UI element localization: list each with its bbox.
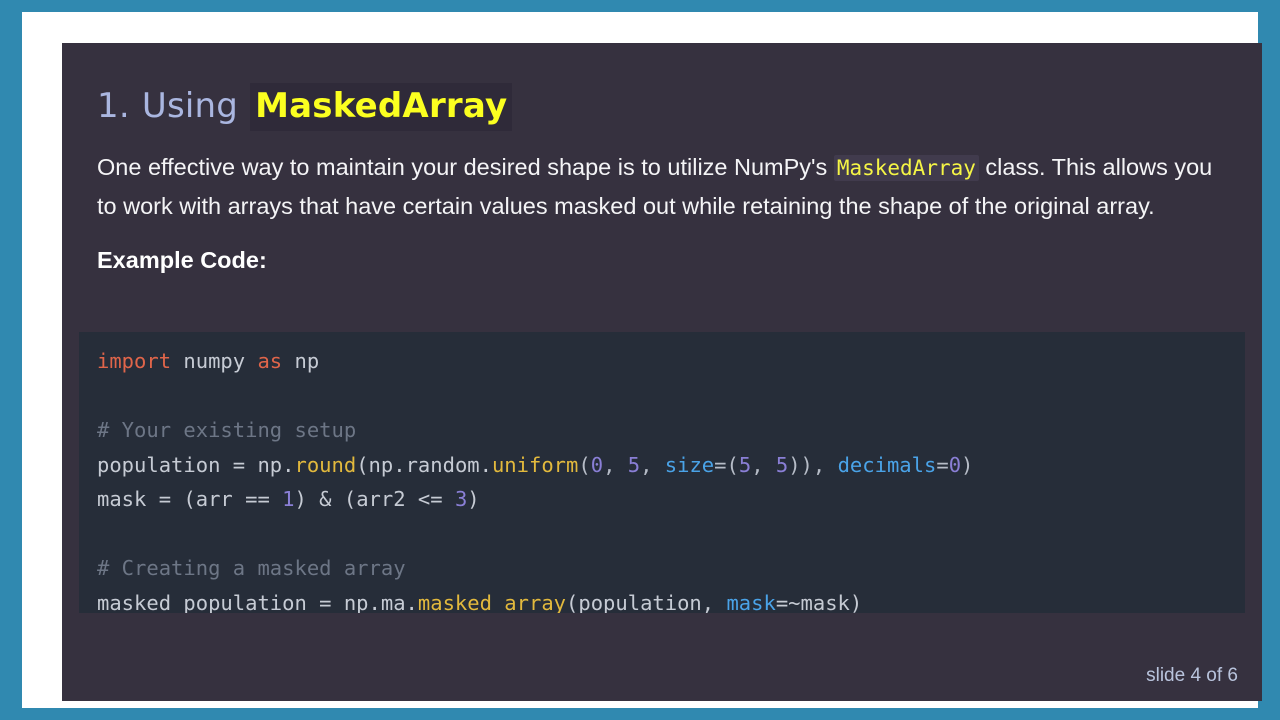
code-module-numpy: numpy	[171, 349, 257, 373]
code-kwarg-size: size	[665, 453, 714, 477]
code-num-zero: 0	[591, 453, 603, 477]
body-paragraph: One effective way to maintain your desir…	[97, 148, 1222, 225]
slide-counter: slide 4 of 6	[1146, 665, 1238, 687]
code-fn-round: round	[294, 453, 356, 477]
code-num-five-c: 5	[776, 453, 788, 477]
code-block: import numpy as np # Your existing setup…	[79, 332, 1245, 613]
title-number: 1.	[97, 86, 130, 126]
code-comment-creating: # Creating a masked array	[97, 556, 406, 580]
code-equals: =	[936, 453, 948, 477]
code-kwarg-mask: mask	[726, 591, 775, 614]
code-comma-3: ,	[751, 453, 776, 477]
code-comment-setup: # Your existing setup	[97, 418, 356, 442]
code-assign-mask-c: )	[467, 487, 479, 511]
paragraph-text-lead: One effective way to maintain your desir…	[97, 154, 834, 180]
example-code-heading: Example Code:	[97, 247, 1222, 274]
title-word: Using	[142, 86, 238, 126]
code-num-one: 1	[282, 487, 294, 511]
code-alias-np: np	[282, 349, 319, 373]
code-seg-random: (np.random.	[356, 453, 492, 477]
code-assign-population: population = np.	[97, 453, 294, 477]
code-fn-masked-array: masked_array	[418, 591, 566, 614]
code-assign-masked-population: masked_population = np.ma.	[97, 591, 418, 614]
code-comma-1: ,	[603, 453, 628, 477]
slide-canvas: 1. Using MaskedArray One effective way t…	[62, 43, 1262, 701]
code-comma-2: ,	[640, 453, 665, 477]
code-args-population: (population,	[566, 591, 726, 614]
code-mask-negation: =~mask)	[776, 591, 862, 614]
code-num-zero-b: 0	[949, 453, 961, 477]
slide-white-mat: 1. Using MaskedArray One effective way t…	[22, 12, 1258, 708]
code-eq-paren: =(	[714, 453, 739, 477]
title-highlight-term: MaskedArray	[250, 83, 512, 131]
inline-code-maskedarray: MaskedArray	[834, 155, 979, 181]
page-title: 1. Using MaskedArray	[97, 87, 1222, 126]
code-assign-mask-b: ) & (arr2 <=	[294, 487, 454, 511]
code-paren-close: )	[961, 453, 973, 477]
code-assign-mask-a: mask = (arr ==	[97, 487, 282, 511]
code-kwarg-decimals: decimals	[838, 453, 937, 477]
code-num-five-a: 5	[628, 453, 640, 477]
code-fn-uniform: uniform	[492, 453, 578, 477]
code-paren-open: (	[578, 453, 590, 477]
code-close-comma: )),	[788, 453, 837, 477]
code-keyword-as: as	[257, 349, 282, 373]
code-listing: import numpy as np # Your existing setup…	[79, 344, 1245, 613]
code-num-five-b: 5	[739, 453, 751, 477]
code-keyword-import: import	[97, 349, 171, 373]
code-num-three: 3	[455, 487, 467, 511]
slide-outer-border: 1. Using MaskedArray One effective way t…	[0, 0, 1280, 720]
